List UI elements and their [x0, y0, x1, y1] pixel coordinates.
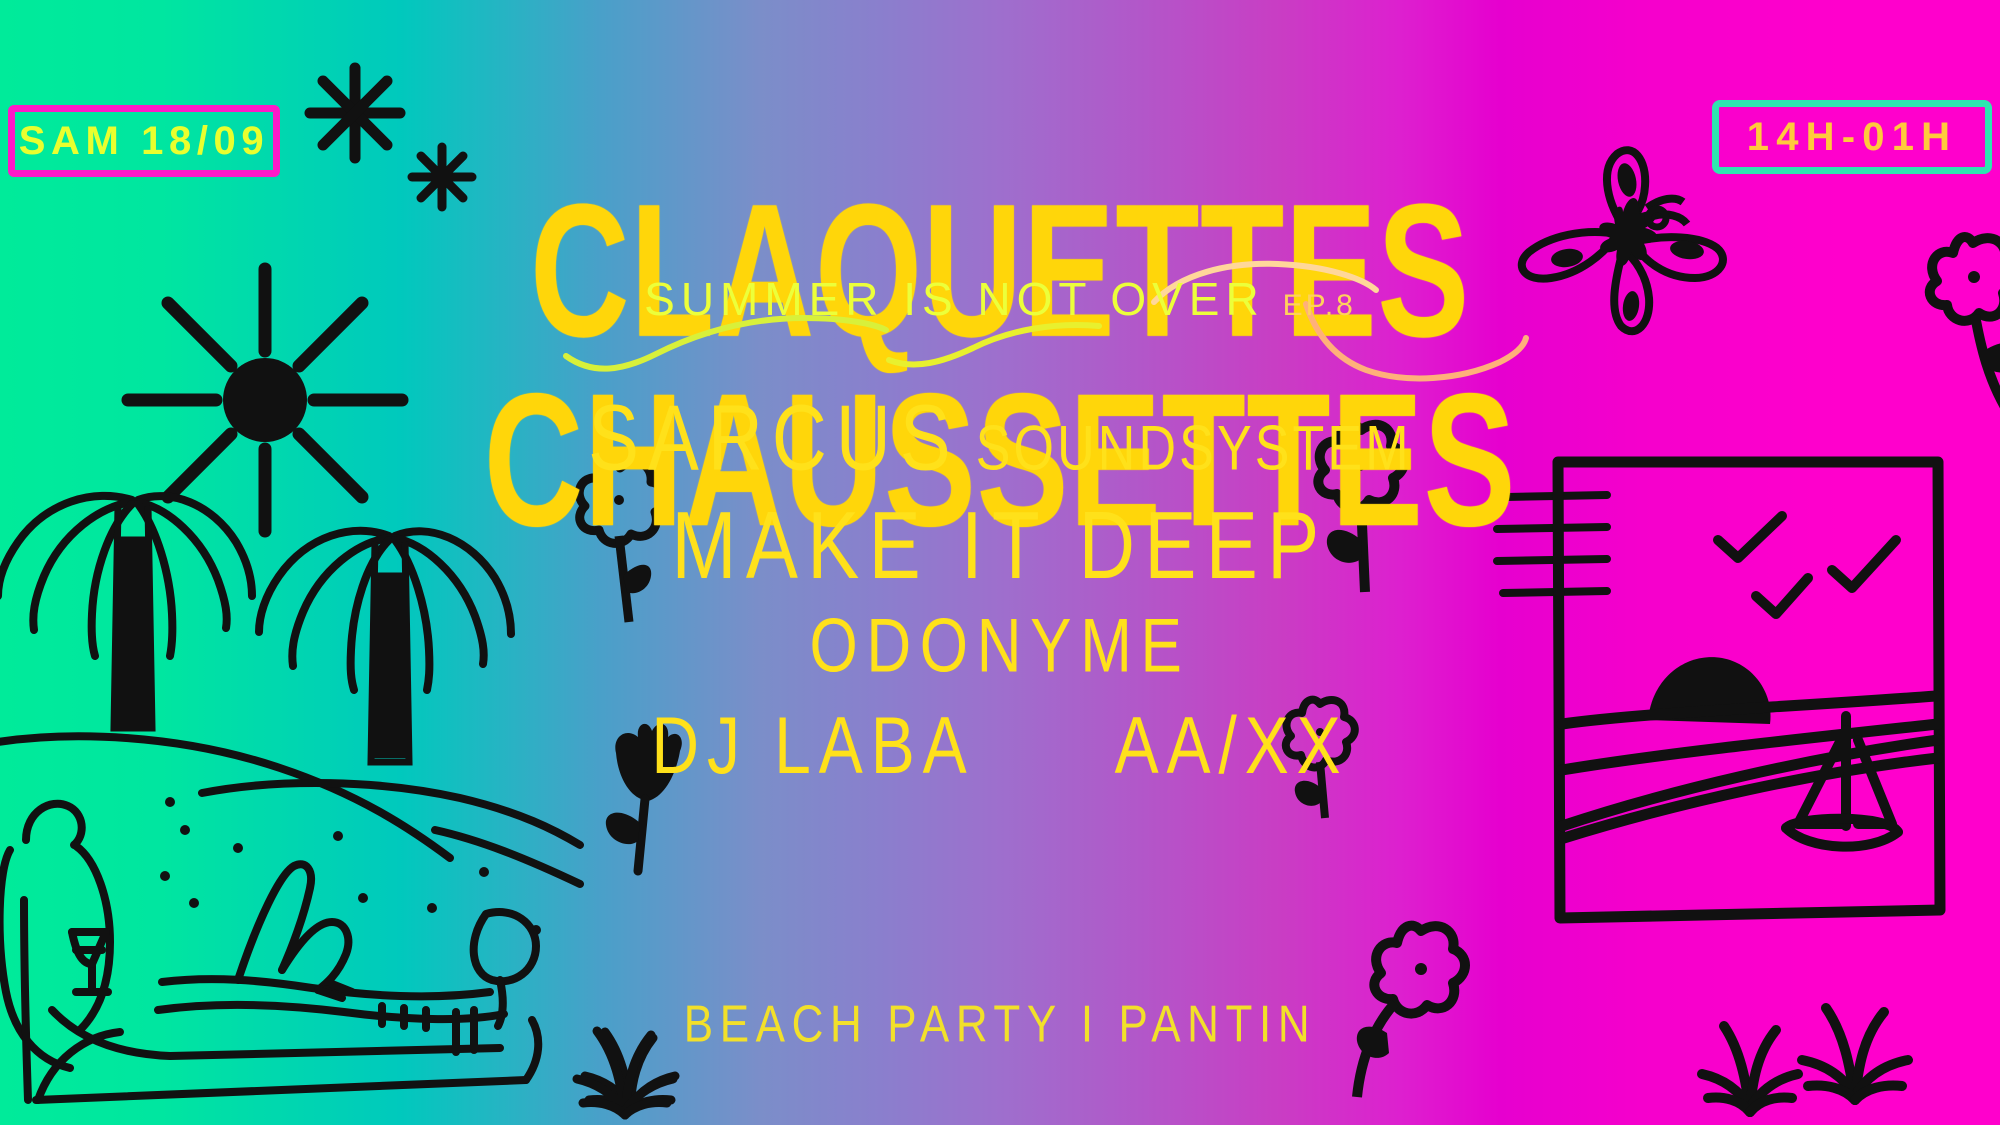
sparkle-large-icon [300, 58, 410, 168]
lineup-act-2-name: MAKE IT DEEP [671, 497, 1328, 594]
lineup-act-2: MAKE IT DEEP [0, 506, 2000, 586]
lineup-act-1: SARCUSSOUNDSYSTEM [0, 400, 2000, 478]
venue-line: BEACH PARTY I PANTIN [0, 1000, 2000, 1050]
lineup-act-4: DJ LABAAA/XX [0, 712, 2000, 779]
time-badge-label: 14H-01H [1747, 115, 1957, 160]
lineup-act-4-name: DJ LABA [651, 700, 974, 790]
event-poster: SAM 18/09 14H-01H CLAQUETTES CHAUSSETTES… [0, 0, 2000, 1125]
lineup-act-3-name: ODONYME [809, 608, 1190, 685]
lineup-act-3: ODONYME [0, 615, 2000, 678]
lineup-act-4-suffix: AA/XX [1115, 700, 1349, 790]
date-badge-label: SAM 18/09 [19, 119, 270, 164]
time-badge: 14H-01H [1712, 100, 1992, 174]
lineup-act-1-name: SARCUS [588, 387, 959, 491]
date-badge: SAM 18/09 [8, 105, 280, 177]
lineup-list: SARCUSSOUNDSYSTEM MAKE IT DEEP ODONYME D… [0, 400, 2000, 780]
venue-text: BEACH PARTY I PANTIN [684, 996, 1316, 1055]
lineup-act-1-suffix: SOUNDSYSTEM [976, 413, 1412, 484]
